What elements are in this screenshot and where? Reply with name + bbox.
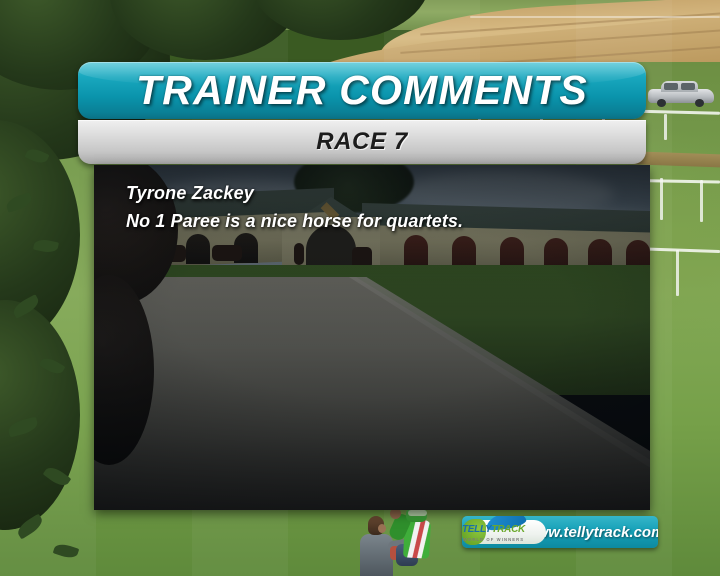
- tellytrack-logo: TELLYTRACK WORLD OF WINNERS: [462, 516, 525, 548]
- logo-word-track: TRACK: [491, 524, 525, 535]
- panel-subheader-bar: RACE 7: [78, 120, 646, 164]
- parked-car: [648, 80, 714, 106]
- stable-door: [186, 234, 210, 264]
- trainer-comments-panel: TRAINER COMMENTS RACE 7: [78, 62, 650, 510]
- jockey-helmet-visor: [408, 510, 427, 516]
- page-title: TRAINER COMMENTS: [136, 67, 588, 114]
- people-group: [352, 500, 472, 576]
- rail-post: [676, 250, 679, 296]
- stable-door: [404, 235, 428, 265]
- person-in-archway: [294, 243, 304, 265]
- trainer-comment-block: Tyrone Zackey No 1 Paree is a nice horse…: [126, 183, 463, 232]
- stable-door: [452, 236, 476, 266]
- car-window: [664, 83, 678, 90]
- person-body: [360, 534, 393, 576]
- rail-post: [664, 114, 667, 140]
- logo-tagline: WORLD OF WINNERS: [463, 537, 524, 542]
- rail-post: [700, 180, 703, 222]
- logo-wordmark: TELLYTRACK: [462, 525, 525, 535]
- stable-door: [500, 237, 524, 267]
- tellytrack-branding-bar: TELLYTRACK WORLD OF WINNERS www.tellytra…: [462, 516, 658, 548]
- horse: [212, 245, 242, 261]
- race-number-label: RACE 7: [316, 128, 408, 156]
- stable-door: [544, 238, 568, 268]
- trainer-comment: No 1 Paree is a nice horse for quartets.: [126, 211, 463, 232]
- car-wheel: [657, 99, 666, 107]
- stable-yard-photo: Tyrone Zackey No 1 Paree is a nice horse…: [94, 165, 650, 510]
- running-rail: [470, 16, 720, 18]
- person-face: [378, 524, 386, 533]
- car-window: [681, 83, 695, 90]
- rail-post: [660, 178, 663, 220]
- panel-header-bar: TRAINER COMMENTS: [78, 62, 646, 119]
- logo-word-telly: TELLY: [462, 524, 491, 535]
- car-wheel: [695, 99, 704, 107]
- trainer-name: Tyrone Zackey: [126, 183, 463, 204]
